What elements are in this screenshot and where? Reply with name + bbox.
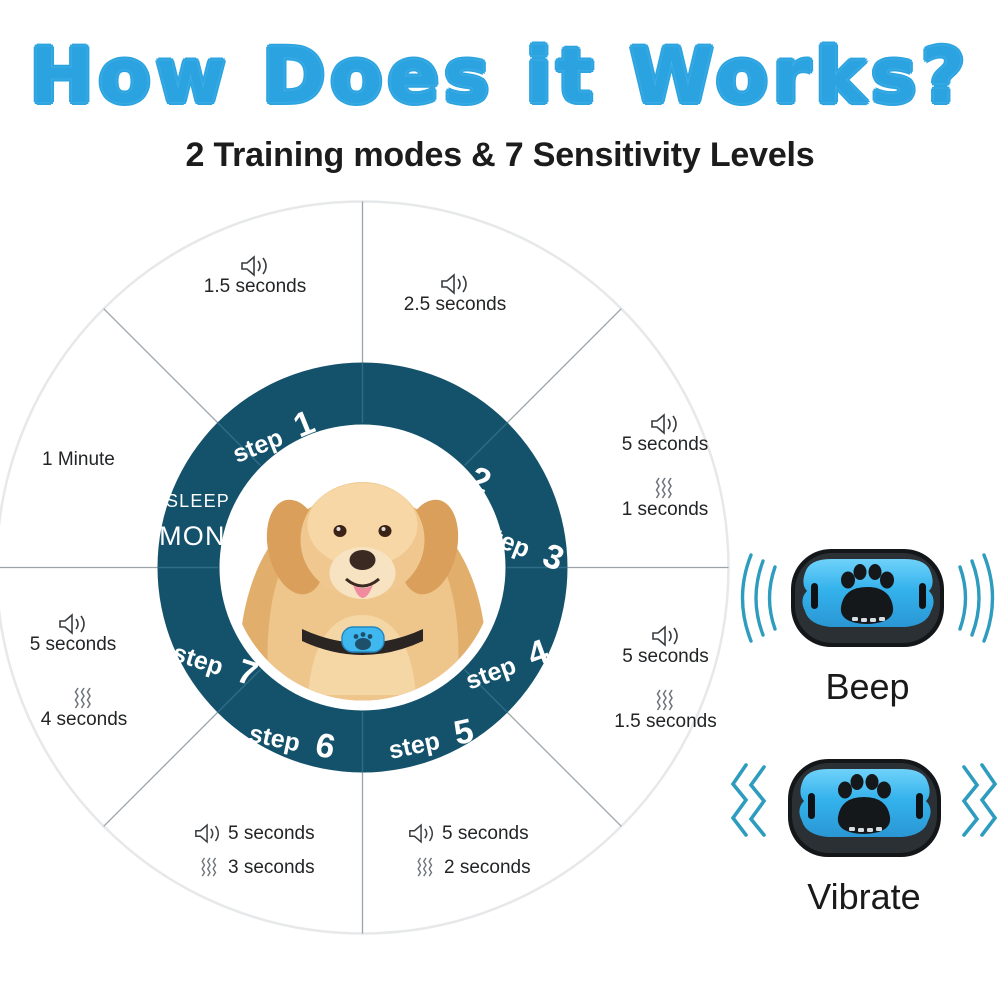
page-title: How Does it Works? xyxy=(0,38,1000,114)
speaker-icon xyxy=(240,255,270,277)
step-5-beep-text: 5 seconds xyxy=(442,824,529,843)
step-5-vibrate-text: 2 seconds xyxy=(444,858,531,877)
step-3-vibrate-text: 1 seconds xyxy=(622,500,709,519)
step-6-outer-label: 5 seconds 3 seconds xyxy=(194,823,315,878)
beep-wave-right-icon xyxy=(960,555,993,641)
speaker-icon xyxy=(194,823,222,844)
vibrate-caption: Vibrate xyxy=(728,876,1000,918)
vibrate-icon xyxy=(414,856,438,878)
beep-device-row xyxy=(735,538,1000,658)
vibrate-icon xyxy=(71,686,97,710)
page-subtitle: 2 Training modes & 7 Sensitivity Levels xyxy=(0,136,1000,175)
speaker-icon xyxy=(650,413,680,435)
step-3-beep-text: 5 seconds xyxy=(622,435,709,454)
vibrate-wave-right-icon xyxy=(964,765,995,835)
vibrate-device-illustration xyxy=(728,743,1000,873)
step-1-beep-text: 1.5 seconds xyxy=(204,277,306,296)
step-7-outer-label: 5 seconds 4 seconds xyxy=(0,613,148,729)
step-4-beep-text: 5 seconds xyxy=(622,647,709,666)
sleep-mode-outer-label: 1 Minute xyxy=(42,450,115,469)
infographic-page: How Does it Works? 2 Training modes & 7 … xyxy=(0,0,1000,1000)
step-5-outer-label: 5 seconds 2 seconds xyxy=(408,823,531,878)
step-7-vibrate-text: 4 seconds xyxy=(41,710,128,729)
sleep-minute-text: 1 Minute xyxy=(42,449,115,470)
step-2-beep-text: 2.5 seconds xyxy=(404,295,506,314)
step-6-beep-text: 5 seconds xyxy=(228,824,315,843)
vibrate-device-row xyxy=(728,748,1000,868)
speaker-icon xyxy=(58,613,88,635)
step-1-outer-label: 1.5 seconds xyxy=(185,255,325,296)
step-7-beep-text: 5 seconds xyxy=(30,635,117,654)
training-wheel-diagram: step 1 step 2 step 3 st xyxy=(0,195,735,940)
speaker-icon xyxy=(408,823,436,844)
step-4-outer-label: 5 seconds 1.5 seconds xyxy=(588,625,743,731)
vibrate-icon xyxy=(198,856,222,878)
vibrate-icon xyxy=(652,476,678,500)
sleep-mode-small-label: SLEEP xyxy=(166,491,230,511)
beep-wave-left-icon xyxy=(743,555,776,641)
speaker-icon xyxy=(440,273,470,295)
sleep-mode-big-label: MONE xyxy=(159,521,245,551)
vibrate-icon xyxy=(653,688,679,712)
speaker-icon xyxy=(651,625,681,647)
vibrate-wave-left-icon xyxy=(733,765,764,835)
collar-device-icon xyxy=(342,627,384,652)
step-4-vibrate-text: 1.5 seconds xyxy=(614,712,716,731)
step-6-vibrate-text: 3 seconds xyxy=(228,858,315,877)
header: How Does it Works? 2 Training modes & 7 … xyxy=(0,0,1000,175)
beep-device-illustration xyxy=(735,533,1000,663)
step-2-outer-label: 2.5 seconds xyxy=(380,273,530,314)
step-3-outer-label: 5 seconds 1 seconds xyxy=(595,413,735,519)
vibrate-mode-block: Vibrate xyxy=(728,748,1000,918)
beep-caption: Beep xyxy=(735,666,1000,708)
wheel-svg: step 1 step 2 step 3 st xyxy=(0,195,735,940)
beep-mode-block: Beep xyxy=(735,538,1000,708)
